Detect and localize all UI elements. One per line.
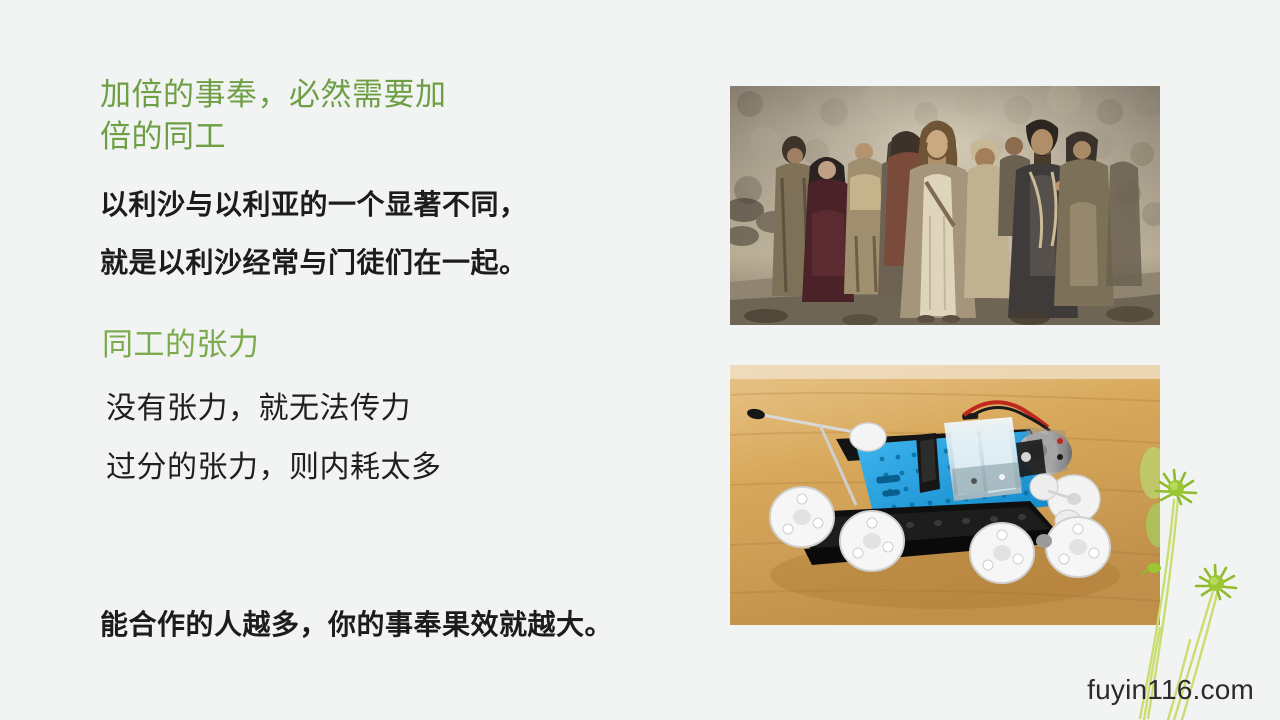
bullet-item-2: 过分的张力，则内耗太多 xyxy=(106,450,442,486)
jesus-walking-with-disciples-photo xyxy=(730,86,1160,325)
flower-head-lower xyxy=(1196,565,1236,599)
diy-robot-car-kit-photo xyxy=(730,365,1160,625)
site-watermark: fuyin116.com xyxy=(1087,674,1254,706)
section-subheading: 同工的张力 xyxy=(102,325,260,365)
closing-statement: 能合作的人越多，你的事奉果效就越大。 xyxy=(100,608,613,642)
bullet-item-1: 没有张力，就无法传力 xyxy=(106,391,411,427)
body-paragraph-line-2: 就是以利沙经常与门徒们在一起。 xyxy=(100,248,660,278)
robot-car-artwork xyxy=(730,365,1160,625)
presentation-slide: 加倍的事奉，必然需要加 倍的同工 以利沙与以利亚的一个显著不同， 就是以利沙经常… xyxy=(0,0,1280,720)
slide-text-column: 加倍的事奉，必然需要加 倍的同工 以利沙与以利亚的一个显著不同， 就是以利沙经常… xyxy=(100,0,700,720)
flower-head-upper xyxy=(1156,470,1196,504)
page-title: 加倍的事奉，必然需要加 倍的同工 xyxy=(100,74,570,158)
body-paragraph-line-1: 以利沙与以利亚的一个显著不同， xyxy=(100,190,660,220)
jesus-photo-artwork xyxy=(730,86,1160,325)
